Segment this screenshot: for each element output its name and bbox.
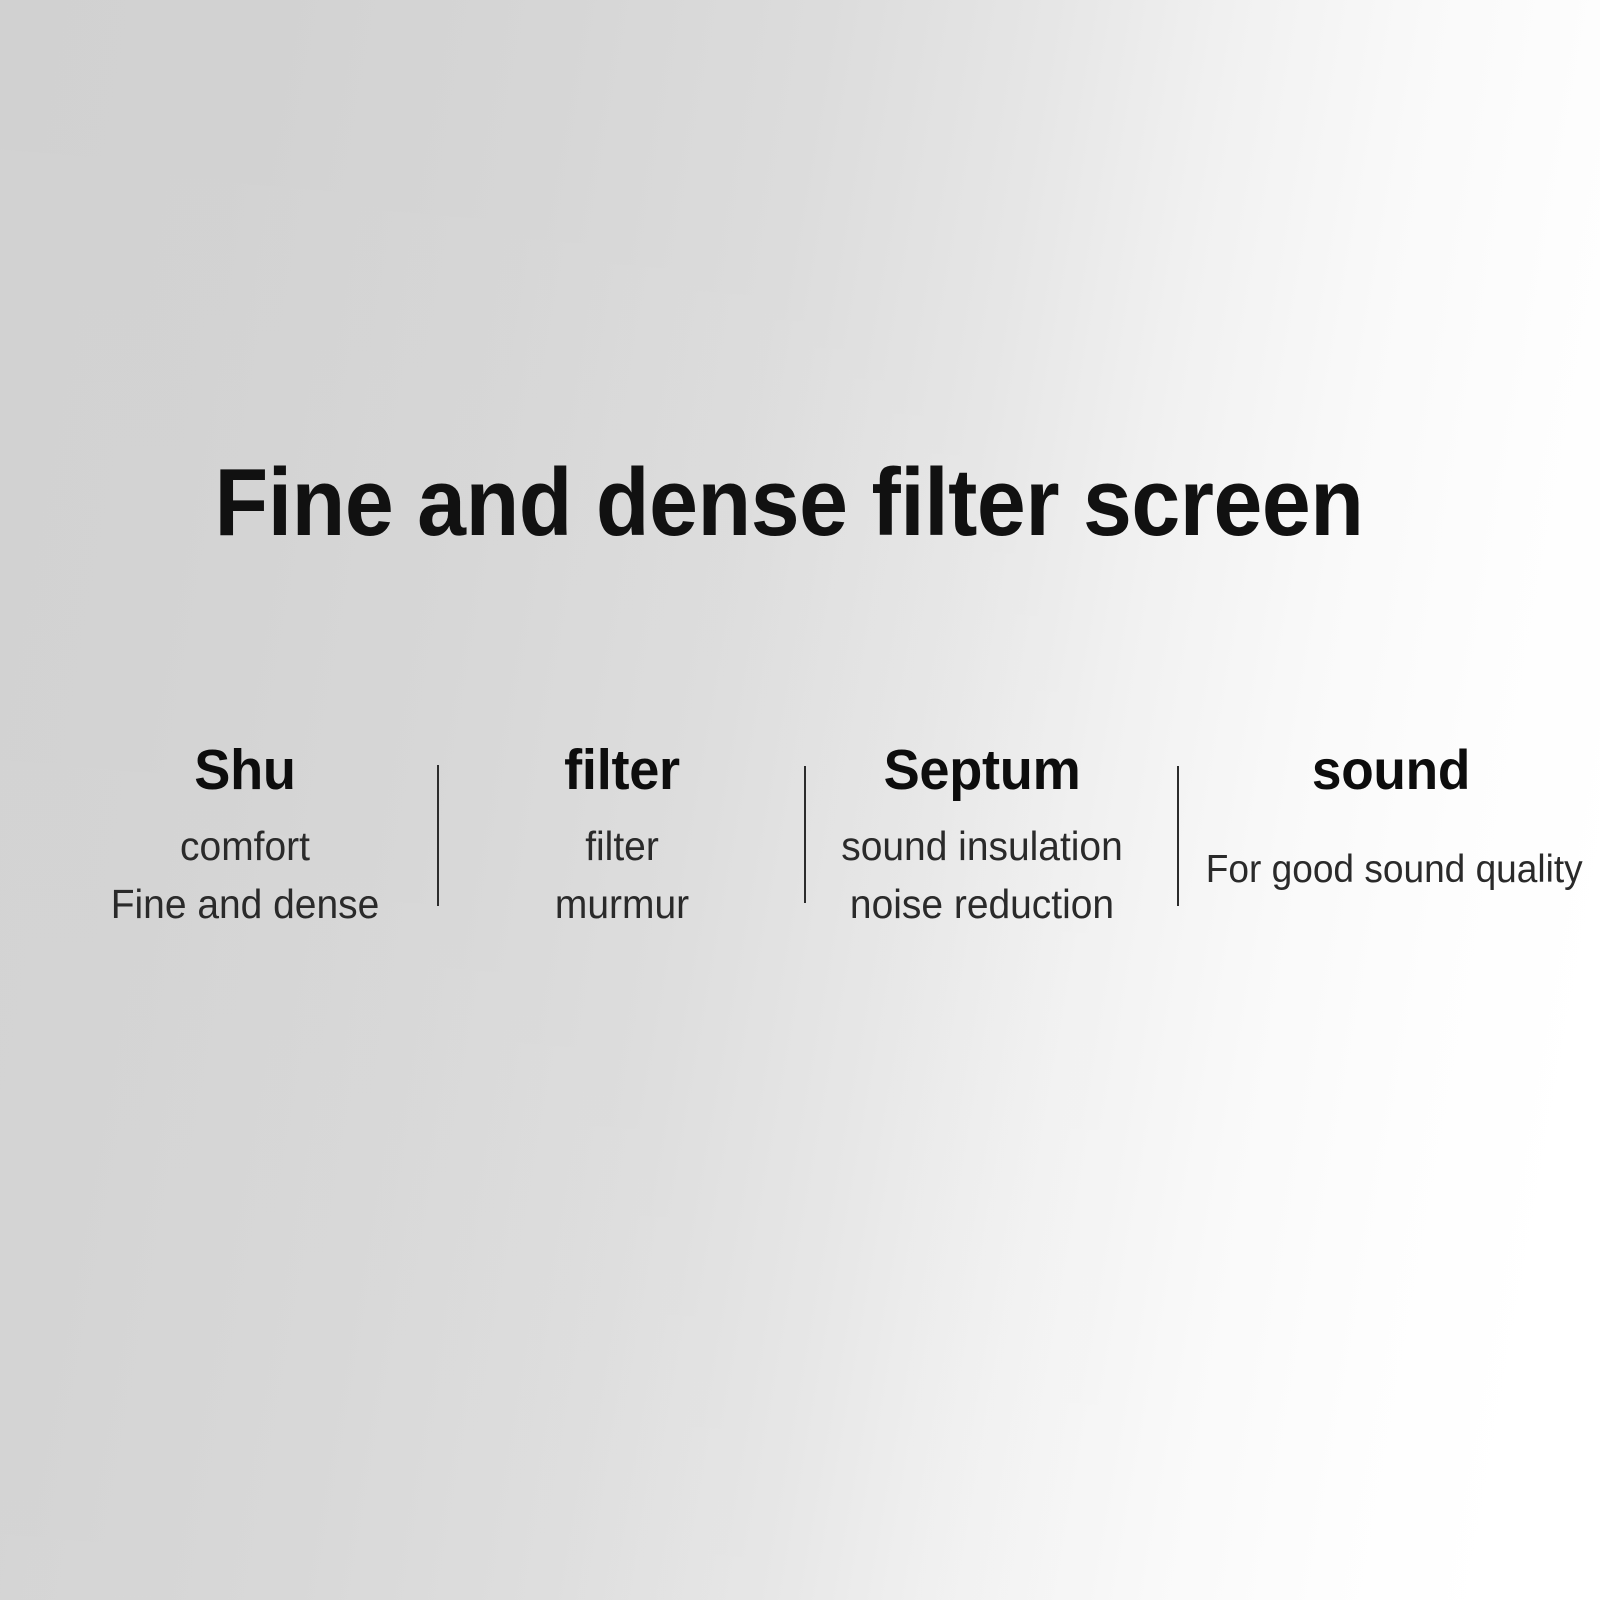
- feature-item-shu: Shu comfort Fine and dense: [80, 742, 410, 933]
- product-feature-banner: Fine and dense filter screen Shu comfort…: [0, 0, 1600, 1600]
- page-title: Fine and dense filter screen: [67, 455, 1511, 551]
- feature-heading: Septum: [821, 742, 1144, 799]
- feature-description-line-1: For good sound quality: [1206, 842, 1577, 897]
- feature-description-line-2: Fine and dense: [88, 875, 402, 933]
- feature-description: sound insulation noise reduction: [821, 817, 1144, 933]
- feature-description-line-1: sound insulation: [821, 817, 1144, 875]
- feature-heading: sound: [1206, 742, 1577, 798]
- feature-list: Shu comfort Fine and dense filter filter…: [0, 742, 1600, 1002]
- feature-description: For good sound quality: [1206, 842, 1577, 897]
- feature-description: comfort Fine and dense: [88, 817, 402, 933]
- feature-description-line-1: filter: [480, 817, 765, 875]
- feature-description-line-2: murmur: [480, 875, 765, 933]
- feature-heading: Shu: [88, 742, 402, 799]
- feature-description-line-1: comfort: [88, 817, 402, 875]
- feature-item-sound: sound For good sound quality: [1196, 742, 1586, 897]
- feature-description: filter murmur: [480, 817, 765, 933]
- feature-description-line-2: noise reduction: [821, 875, 1144, 933]
- feature-item-septum: Septum sound insulation noise reduction: [812, 742, 1152, 933]
- feature-item-filter: filter filter murmur: [472, 742, 772, 933]
- feature-heading: filter: [480, 742, 765, 799]
